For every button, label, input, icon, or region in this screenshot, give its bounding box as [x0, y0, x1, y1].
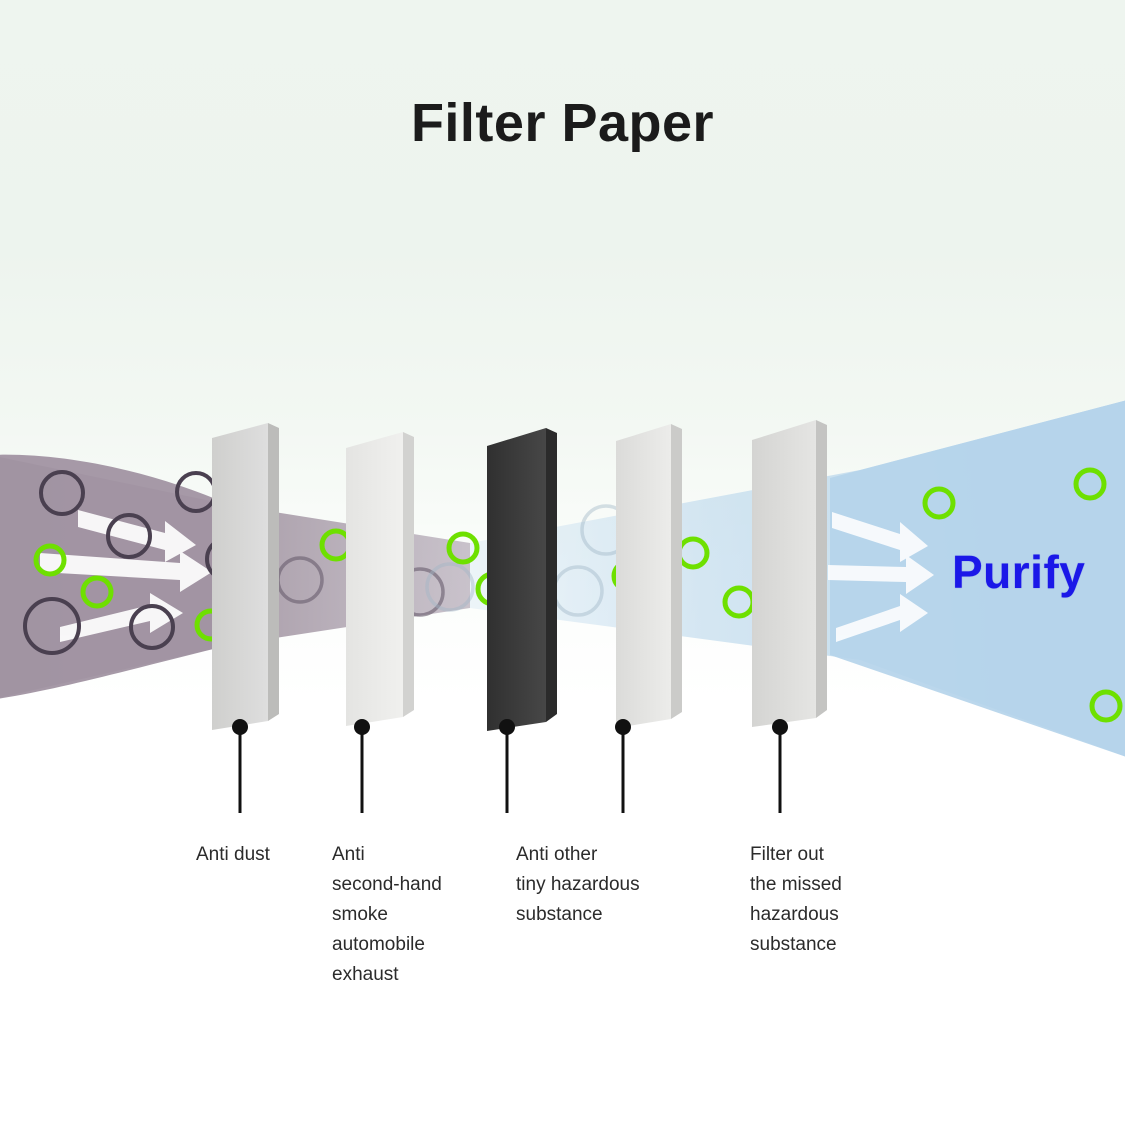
filter-plate-3[interactable]: [487, 428, 557, 731]
leader-dot-1: [232, 719, 248, 735]
diagram-canvas: Filter Paper Purify Anti dust Anti secon…: [0, 0, 1125, 1130]
page-title: Filter Paper: [0, 92, 1125, 154]
leader-dot-5: [772, 719, 788, 735]
purify-label: Purify: [952, 545, 1085, 599]
filter-plate-5[interactable]: [752, 420, 827, 727]
leader-dot-3: [499, 719, 515, 735]
leader-dot-group: [232, 719, 788, 735]
leader-dot-2: [354, 719, 370, 735]
leader-line-group: [240, 728, 780, 813]
layer-label-anti-dust: Anti dust: [196, 840, 326, 870]
layer-label-anti-tiny-substance: Anti other tiny hazardous substance: [516, 840, 686, 930]
filter-plate-4[interactable]: [616, 424, 682, 728]
layer-label-filter-missed: Filter out the missed hazardous substanc…: [750, 840, 910, 960]
filter-plate-2[interactable]: [346, 432, 414, 726]
filter-plate-1[interactable]: [212, 423, 279, 730]
leader-dot-4: [615, 719, 631, 735]
layer-label-anti-smoke: Anti second-hand smoke automobile exhaus…: [332, 840, 482, 990]
